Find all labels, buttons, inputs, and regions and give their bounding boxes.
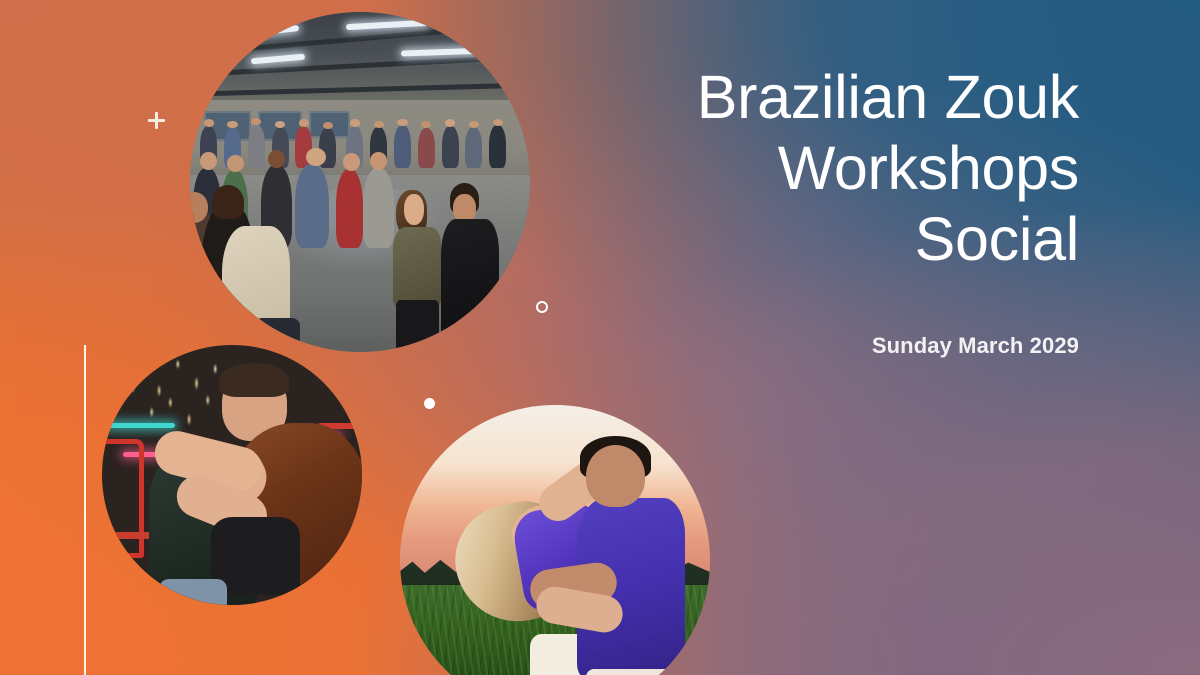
crowd-person-head xyxy=(227,121,237,128)
dancer-head xyxy=(268,150,285,167)
crowd-person-head xyxy=(323,122,333,129)
photo-couple-sunset-field xyxy=(400,405,710,675)
crowd-person-head xyxy=(374,121,384,128)
sunset-scene xyxy=(400,405,710,675)
crowd-person-head xyxy=(299,119,309,126)
photo-couple-fairy-lights xyxy=(102,345,362,605)
dancer-head xyxy=(227,155,244,172)
red-chair xyxy=(102,439,144,559)
crowd-person-head xyxy=(350,119,360,126)
foreground-person-head xyxy=(212,185,244,219)
crowd-person-head xyxy=(204,119,214,126)
man-hair xyxy=(219,363,289,397)
event-date: Sunday March 2029 xyxy=(559,275,1079,359)
crowd-person-head xyxy=(445,119,455,126)
dancer-head xyxy=(370,152,387,169)
man-face xyxy=(586,445,645,507)
dancer-head xyxy=(306,148,326,166)
plus-icon xyxy=(148,112,165,129)
slide-text-block: Brazilian Zouk Workshops Social Sunday M… xyxy=(559,62,1079,359)
vertical-rule-divider xyxy=(84,345,86,675)
page-title: Brazilian Zouk Workshops Social xyxy=(559,62,1079,275)
man-trousers xyxy=(586,669,679,675)
woman-top xyxy=(393,227,442,308)
woman-face xyxy=(404,194,424,225)
dancer-head xyxy=(200,152,217,169)
studio-scene xyxy=(190,12,530,352)
photo-dance-studio-social xyxy=(190,12,530,352)
crowd-person-head xyxy=(275,121,285,128)
circle-outline-icon xyxy=(536,301,548,313)
crowd-person-head xyxy=(493,119,503,126)
crowd-person-head xyxy=(421,121,431,128)
foreground-dancers-left xyxy=(190,189,353,352)
crowd-person-head xyxy=(397,119,407,126)
dancer-head xyxy=(343,153,360,170)
fairy-lights-scene xyxy=(102,345,362,605)
foreground-couple-right xyxy=(387,175,530,352)
woman-trousers xyxy=(396,300,439,352)
crowd-person-head xyxy=(469,121,479,128)
man-shirt xyxy=(441,219,498,352)
presentation-slide: Brazilian Zouk Workshops Social Sunday M… xyxy=(0,0,1200,675)
neon-strip-cyan xyxy=(107,423,175,428)
crowd-person-head xyxy=(251,118,261,125)
jeans xyxy=(159,579,227,605)
